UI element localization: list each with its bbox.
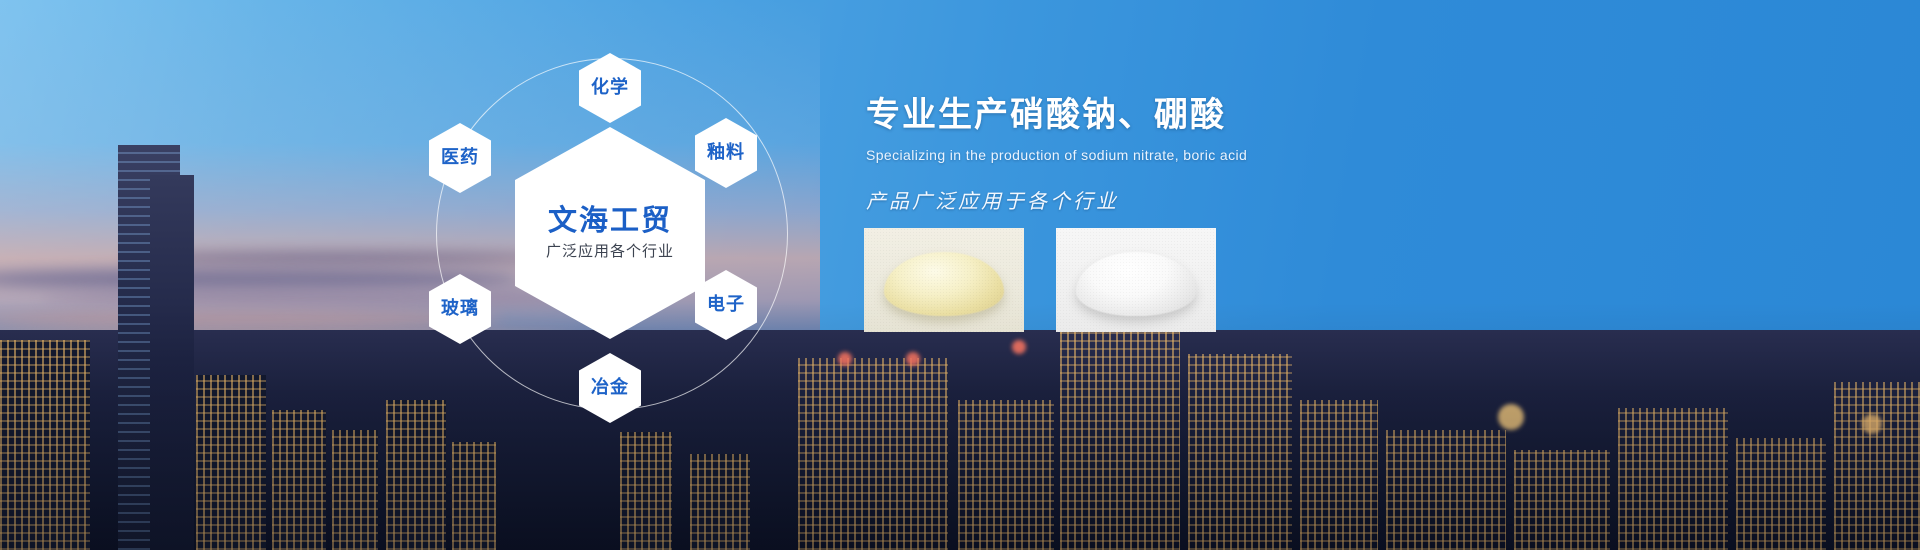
product-photo-sodium-nitrate — [864, 228, 1024, 332]
headline: 专业生产硝酸钠、硼酸 — [866, 96, 1626, 135]
brand-tagline: 广泛应用各个行业 — [546, 244, 674, 261]
hexagon-node-label: 化学 — [591, 78, 629, 98]
hexagon-node-label: 医药 — [441, 148, 479, 168]
tagline: 产品广泛应用于各个行业 — [866, 185, 1626, 214]
hexagon-node-label: 釉料 — [707, 143, 745, 163]
industry-hexagon-diagram: 化学 釉料 电子 冶金 玻璃 医药 文海工贸 广泛应用各个行业 — [400, 20, 820, 450]
photo-grain — [1056, 228, 1216, 332]
hexagon-node-label: 玻璃 — [441, 299, 479, 319]
product-photo-boric-acid — [1056, 228, 1216, 332]
brand-name: 文海工贸 — [548, 206, 672, 238]
hexagon-node-label: 冶金 — [591, 378, 629, 398]
product-photo-strip — [864, 228, 1216, 332]
headline-english: Specializing in the production of sodium… — [866, 147, 1626, 163]
headline-block: 专业生产硝酸钠、硼酸 Specializing in the productio… — [866, 96, 1626, 214]
hero-banner: 化学 釉料 电子 冶金 玻璃 医药 文海工贸 广泛应用各个行业 专业生产硝酸钠、… — [0, 0, 1920, 550]
photo-grain — [864, 228, 1024, 332]
hexagon-node-label: 电子 — [707, 295, 745, 315]
